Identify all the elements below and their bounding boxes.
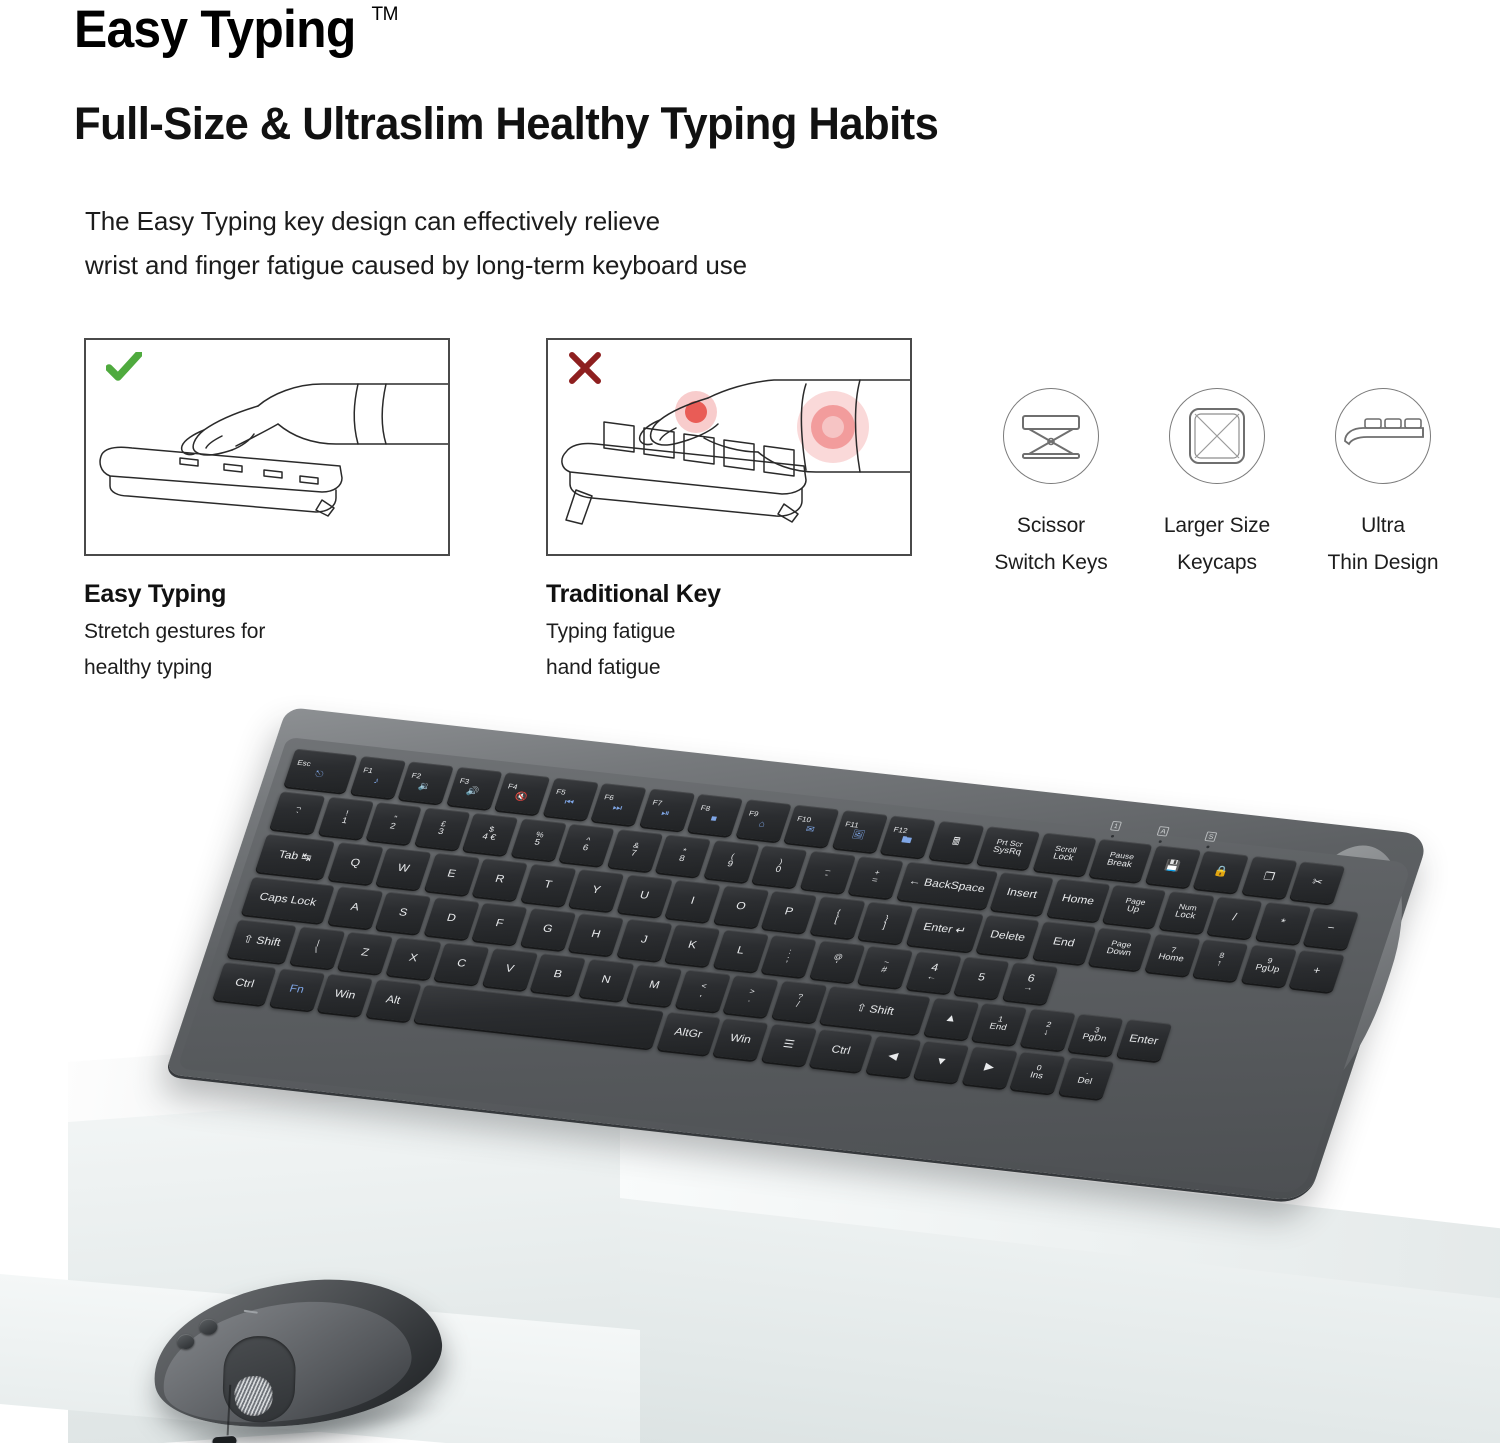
key-8-[interactable]: 8↑ <box>1192 939 1248 981</box>
key-label: P <box>783 906 795 918</box>
num-lock-led: 1 <box>1108 821 1123 839</box>
key-label: T <box>542 879 553 891</box>
key-label: C <box>455 958 467 970</box>
subheading: The Easy Typing key design can effective… <box>85 200 747 287</box>
key-label: Tab ↹ <box>277 849 313 864</box>
key-label: Win <box>333 988 357 1002</box>
key-label: Caps Lock <box>258 891 318 909</box>
key-p[interactable]: P <box>761 891 817 933</box>
key-label: G <box>541 923 554 935</box>
key--[interactable]: {[ <box>809 896 865 938</box>
feature-label-line-1: Scissor <box>994 507 1107 544</box>
key-sublabel: → <box>1022 984 1034 994</box>
key-t[interactable]: T <box>520 864 576 906</box>
key-label: Delete <box>988 929 1026 944</box>
key-label: U <box>638 890 650 902</box>
key-label-bottom: # <box>880 966 888 976</box>
mouse-status-led <box>244 1310 258 1314</box>
key-f9-[interactable]: F9⌂ <box>735 799 791 841</box>
key-fn[interactable]: Fn <box>269 968 325 1010</box>
key--4-[interactable]: $4 € <box>462 813 518 855</box>
key-ctrl[interactable]: Ctrl <box>809 1029 873 1072</box>
key-label: Z <box>359 947 370 959</box>
key--6[interactable]: ^6 <box>558 824 614 866</box>
key-label-bottom: Lock <box>1173 911 1196 922</box>
key-label-bottom: . <box>746 996 752 1005</box>
key-h[interactable]: H <box>568 913 624 955</box>
key-z[interactable]: Z <box>337 932 393 974</box>
key-2-[interactable]: 2↓ <box>1019 1008 1075 1050</box>
led-dot <box>1111 835 1115 838</box>
key-label-top: F5 <box>555 789 567 798</box>
mouse-usb-c-port[interactable] <box>211 1435 238 1443</box>
key-label-bottom: 6 <box>581 844 589 854</box>
key-label-bottom: SysRq <box>991 846 1022 858</box>
key-5[interactable]: 5 <box>953 957 1009 999</box>
key-label-bottom: ⏮ <box>563 797 575 807</box>
key-f4-[interactable]: F4🔇 <box>494 772 550 814</box>
key-label-bottom: Break <box>1105 859 1133 871</box>
feature-label-scissor: Scissor Switch Keys <box>994 507 1107 582</box>
key-label: End <box>1051 936 1076 950</box>
key-label-top: F10 <box>796 816 812 825</box>
key-label-bottom: \ <box>313 947 319 956</box>
key-f3-[interactable]: F3🔊 <box>446 767 502 809</box>
key-f8-[interactable]: F8■ <box>687 794 743 836</box>
key-label-bottom: 🖼 <box>850 830 866 841</box>
trademark-symbol: TM <box>371 4 397 26</box>
key-label: E <box>446 868 458 880</box>
comparison-panel-easy-typing <box>84 338 450 556</box>
key-label-bottom: Del <box>1076 1077 1093 1088</box>
product-photo-stage: 1AS Esc⎋F1♪F2🔉F3🔊F4🔇F5⏮F6⏭F7⏯F8■F9⌂F10✉F… <box>0 690 1500 1443</box>
key-label-bottom: [ <box>833 917 839 926</box>
key-1-end[interactable]: 1End <box>971 1003 1027 1045</box>
key-label-top: F11 <box>844 821 860 830</box>
caps-lock-led: A <box>1154 826 1169 844</box>
key-label: AltGr <box>673 1026 704 1040</box>
key-label: Ctrl <box>233 977 255 990</box>
key-label-bottom: = <box>870 877 878 887</box>
key-label: Win <box>728 1033 752 1047</box>
key-label-bottom: 3 <box>436 828 444 838</box>
feature-highlights: Scissor Switch Keys Larger Size Keycaps <box>968 388 1468 582</box>
key--3[interactable]: £3 <box>414 808 470 850</box>
key-i[interactable]: I <box>664 880 720 922</box>
key-page-down[interactable]: PageDown <box>1088 927 1152 970</box>
key-f5-[interactable]: F5⏮ <box>542 778 598 820</box>
key-label: ▼ <box>933 1056 949 1069</box>
feature-scissor-switch-keys: Scissor Switch Keys <box>968 388 1134 582</box>
key-3-pgdn[interactable]: 3PgDn <box>1067 1014 1123 1056</box>
key-label: R <box>494 873 506 885</box>
key-label: 🖩 <box>950 836 961 848</box>
key-label: H <box>590 928 602 940</box>
key--[interactable]: 🔒 <box>1193 851 1249 893</box>
key--[interactable]: |\ <box>289 926 345 968</box>
key-4-[interactable]: 4← <box>905 951 961 993</box>
key-f12-[interactable]: F12🖿 <box>880 816 936 858</box>
key-label: J <box>639 934 649 946</box>
key-label: ⇧ Shift <box>854 1002 895 1017</box>
key-label-bottom: PgUp <box>1254 964 1281 976</box>
key-label-top: F1 <box>362 767 374 776</box>
key-label-bottom: End <box>988 1023 1008 1034</box>
key-j[interactable]: J <box>616 919 672 961</box>
key-label: ← BackSpace <box>907 876 986 896</box>
panel-title-traditional-key: Traditional Key <box>546 580 721 609</box>
scissor-switch-icon <box>1003 388 1099 484</box>
key-label-bottom: ⏯ <box>660 808 671 818</box>
slim-profile-icon <box>1335 388 1431 484</box>
key-label: ☰ <box>781 1039 795 1051</box>
key--[interactable]: / <box>1206 896 1262 938</box>
key-u[interactable]: U <box>616 875 672 917</box>
check-mark-icon <box>106 352 142 387</box>
key-label-bottom: ↓ <box>1042 1029 1050 1038</box>
key-end[interactable]: End <box>1032 921 1096 964</box>
key-f7-[interactable]: F7⏯ <box>639 788 695 830</box>
feature-label-line-1: Larger Size <box>1164 507 1270 544</box>
key-label-top: Esc <box>296 760 312 769</box>
feature-larger-size-keycaps: Larger Size Keycaps <box>1134 388 1300 582</box>
key--[interactable]: ◀ <box>865 1035 921 1077</box>
key-page-up[interactable]: PageUp <box>1102 885 1166 928</box>
key--8[interactable]: *8 <box>655 835 711 877</box>
page-title: Full-Size & Ultraslim Healthy Typing Hab… <box>74 98 938 150</box>
key-f[interactable]: F <box>471 903 527 945</box>
key-scroll-lock[interactable]: ScrollLock <box>1032 833 1096 876</box>
key-num-lock[interactable]: NumLock <box>1158 891 1214 933</box>
mouse-scroll-wheel[interactable] <box>233 1375 274 1418</box>
illustration-hand-on-thick-keyboard <box>548 340 912 556</box>
key-label: W <box>396 862 411 875</box>
key--[interactable]: ▲ <box>923 997 979 1039</box>
key-label: Y <box>590 884 602 896</box>
key-label: ✂ <box>1310 876 1324 888</box>
key--[interactable]: }] <box>857 902 913 944</box>
key-0-ins[interactable]: 0Ins <box>1009 1051 1065 1093</box>
key--7[interactable]: &7 <box>607 829 663 871</box>
keyboard-chassis: 1AS Esc⎋F1♪F2🔉F3🔊F4🔇F5⏮F6⏭F7⏯F8■F9⌂F10✉F… <box>165 707 1430 1202</box>
panel-sub-line-2: hand fatigue <box>546 650 675 686</box>
key-label: 💾 <box>1163 860 1182 873</box>
key-n[interactable]: N <box>578 959 634 1001</box>
key--[interactable]: ▼ <box>913 1041 969 1083</box>
key-win[interactable]: Win <box>317 974 373 1016</box>
feature-label-line-2: Thin Design <box>1328 544 1439 581</box>
key--9[interactable]: (9 <box>703 840 759 882</box>
key-o[interactable]: O <box>713 885 769 927</box>
key-label-bottom: 🔇 <box>513 792 528 803</box>
key-f1-[interactable]: F1♪ <box>349 756 405 798</box>
key-prt-scr-sysrq[interactable]: Prt ScrSysRq <box>976 826 1040 869</box>
led-glyph: 1 <box>1110 821 1122 832</box>
key--5[interactable]: %5 <box>510 818 566 860</box>
key-label-bottom: 7 <box>629 850 637 860</box>
key-a[interactable]: A <box>327 886 383 928</box>
mouse-wheel-trough <box>222 1335 297 1423</box>
key-label: V <box>504 963 516 975</box>
key-label: A <box>349 901 361 913</box>
key-label-bottom: / <box>795 1001 801 1010</box>
key--[interactable]: 💾 <box>1144 845 1200 887</box>
key-w[interactable]: W <box>375 847 431 889</box>
key-d[interactable]: D <box>423 897 479 939</box>
led-glyph: A <box>1157 826 1170 837</box>
key-g[interactable]: G <box>520 908 576 950</box>
key-insert[interactable]: Insert <box>990 872 1054 915</box>
key-label: ▶ <box>983 1061 996 1073</box>
key--[interactable]: * <box>1254 902 1310 944</box>
subheading-line-1: The Easy Typing key design can effective… <box>85 200 747 244</box>
key-label-bottom: Down <box>1105 947 1132 959</box>
key-label-bottom: ■ <box>709 814 718 824</box>
key-label-bottom: ♪ <box>372 776 380 786</box>
key--[interactable]: 🖩 <box>928 821 984 863</box>
key-label-top: F2 <box>410 772 422 781</box>
panel-sub-line-1: Typing fatigue <box>546 614 675 650</box>
key-label-bottom: ; <box>784 956 790 965</box>
mouse-dpi-button-1[interactable] <box>176 1333 195 1350</box>
feature-label-keycaps: Larger Size Keycaps <box>1164 507 1270 582</box>
led-dot <box>1158 840 1162 843</box>
brand-lockup: Easy Typing TM <box>74 2 398 58</box>
key-label-bottom: 2 <box>388 823 396 833</box>
key-label-bottom: 1 <box>340 817 348 827</box>
feature-ultra-thin-design: Ultra Thin Design <box>1300 388 1466 582</box>
key-label: K <box>686 939 698 951</box>
key-label-top: F7 <box>651 799 663 808</box>
key-label: + <box>1311 965 1322 977</box>
key-label-bottom: 🔉 <box>417 781 432 792</box>
key-esc-[interactable]: Esc⎋ <box>283 749 357 793</box>
key-label: ⇧ Shift <box>241 934 282 949</box>
key--[interactable]: _- <box>799 851 855 893</box>
key--0[interactable]: )0 <box>751 845 807 887</box>
key-pause-break[interactable]: PauseBreak <box>1088 839 1152 882</box>
key-label-bottom: ] <box>881 922 887 931</box>
key-label-bottom: ⌂ <box>757 819 766 829</box>
key-label-bottom: Up <box>1125 905 1140 915</box>
key--[interactable]: <, <box>674 970 730 1012</box>
key-label: ▲ <box>943 1012 959 1025</box>
key--[interactable]: >. <box>722 975 778 1017</box>
key-s[interactable]: S <box>375 892 431 934</box>
key-win[interactable]: Win <box>712 1018 768 1060</box>
key-label-bottom: 4 € <box>481 833 497 843</box>
panel-sub-line-2: healthy typing <box>84 650 265 686</box>
key-label: ❐ <box>1262 871 1276 883</box>
key-label: / <box>1231 912 1238 924</box>
key-label-bottom: ✉ <box>804 825 815 835</box>
key-sublabel: ← <box>925 973 937 983</box>
mouse-dpi-button-2[interactable] <box>198 1318 218 1336</box>
key-label-bottom: Lock <box>1051 853 1074 864</box>
comparison-panel-traditional-key <box>546 338 912 556</box>
key-enter-[interactable]: Enter ↵ <box>905 907 983 952</box>
key-x[interactable]: X <box>385 937 441 979</box>
product-infographic: Easy Typing TM Full-Size & Ultraslim Hea… <box>0 0 1500 1443</box>
key--[interactable]: ❐ <box>1241 856 1297 898</box>
key-label: * <box>1278 917 1286 929</box>
key--[interactable]: ▶ <box>961 1046 1017 1088</box>
key-label: S <box>397 907 409 919</box>
key-b[interactable]: B <box>530 953 586 995</box>
key-label: Insert <box>1005 887 1039 902</box>
key-label-top: F6 <box>603 794 615 803</box>
key-label: O <box>734 900 747 912</box>
key-label: ◀ <box>886 1050 899 1062</box>
key-7-home[interactable]: 7Home <box>1144 934 1200 976</box>
panel-subtitle-easy-typing: Stretch gestures for healthy typing <box>84 614 265 686</box>
key-label: Home <box>1060 893 1096 908</box>
key-c[interactable]: C <box>433 943 489 985</box>
key-ctrl[interactable]: Ctrl <box>212 962 276 1005</box>
key-label: Fn <box>288 983 306 996</box>
key-label-bottom: 0 <box>774 866 782 876</box>
key-label: Ctrl <box>830 1044 852 1057</box>
key-e[interactable]: E <box>423 853 479 895</box>
key-label: Q <box>349 857 362 869</box>
key--[interactable]: :; <box>761 935 817 977</box>
feature-label-ultra-thin: Ultra Thin Design <box>1328 507 1439 582</box>
led-dot <box>1206 846 1210 849</box>
key-label: X <box>407 952 419 964</box>
key-label: N <box>600 974 612 986</box>
key--2[interactable]: "2 <box>366 802 422 844</box>
panel-subtitle-traditional-key: Typing fatigue hand fatigue <box>546 614 675 686</box>
key-label-bottom: Home <box>1157 953 1185 965</box>
key-label-bottom: , <box>698 990 704 999</box>
key-f6-[interactable]: F6⏭ <box>590 783 646 825</box>
key-r[interactable]: R <box>472 858 528 900</box>
key-label: 🔒 <box>1211 865 1230 878</box>
key-label-bottom: ' <box>833 961 838 970</box>
key-label-bottom: Ins <box>1028 1072 1044 1082</box>
key-label-bottom: 🔊 <box>465 786 480 797</box>
key-label: I <box>689 895 696 907</box>
key-label-top: F8 <box>699 805 711 814</box>
keyboard-key-grid[interactable]: Esc⎋F1♪F2🔉F3🔊F4🔇F5⏮F6⏭F7⏯F8■F9⌂F10✉F11🖼F… <box>287 707 1430 835</box>
key-label-bottom: 8 <box>677 855 685 865</box>
key-label: Enter <box>1127 1033 1159 1047</box>
key-label: D <box>445 912 457 924</box>
key-label-bottom: PgDn <box>1081 1033 1108 1045</box>
key--shift[interactable]: ⇧ Shift <box>227 919 297 963</box>
key-label-top: F4 <box>507 783 519 792</box>
key-m[interactable]: M <box>626 964 682 1006</box>
cross-mark-icon <box>568 352 602 389</box>
key-k[interactable]: K <box>664 924 720 966</box>
key-label-bottom: - <box>823 871 829 880</box>
key-label-bottom: 9 <box>726 860 734 870</box>
key-label: − <box>1325 922 1336 934</box>
key--[interactable]: ~# <box>857 946 913 988</box>
panel-title-easy-typing: Easy Typing <box>84 580 226 609</box>
key-v[interactable]: V <box>481 948 537 990</box>
feature-label-line-2: Keycaps <box>1164 544 1270 581</box>
key-altgr[interactable]: AltGr <box>656 1012 720 1055</box>
key-label-top: F12 <box>892 827 908 836</box>
key-label-bottom: ⏭ <box>611 803 623 813</box>
keycap-square-icon <box>1169 388 1265 484</box>
feature-label-line-2: Switch Keys <box>994 544 1107 581</box>
key-label-bottom: 5 <box>533 839 541 849</box>
key--1[interactable]: !1 <box>317 797 373 839</box>
panel-sub-line-1: Stretch gestures for <box>84 614 265 650</box>
key--[interactable]: += <box>848 856 904 898</box>
key-label: Enter ↵ <box>922 921 968 937</box>
key-label: B <box>552 969 564 981</box>
key-label-bottom: ⎋ <box>314 769 325 779</box>
key-label-top: F9 <box>748 810 760 819</box>
key-label: 5 <box>976 972 986 984</box>
feature-label-line-1: Ultra <box>1328 507 1439 544</box>
key-9-pgup[interactable]: 9PgUp <box>1240 945 1296 987</box>
key-l[interactable]: L <box>712 930 768 972</box>
key-label-top: @ <box>833 953 844 962</box>
subheading-line-2: wrist and finger fatigue caused by long-… <box>85 244 747 288</box>
key-label-bottom: ` <box>293 812 299 821</box>
key-label-bottom: ↑ <box>1215 960 1223 969</box>
key-f2-[interactable]: F2🔉 <box>398 761 454 803</box>
pain-indicator-wrist <box>797 391 869 463</box>
key-tab-[interactable]: Tab ↹ <box>255 834 335 879</box>
brand-name: Easy Typing <box>74 2 356 58</box>
key-delete[interactable]: Delete <box>975 915 1039 958</box>
key--[interactable]: ☰ <box>760 1024 816 1066</box>
key-f11-[interactable]: F11🖼 <box>831 810 887 852</box>
key-q[interactable]: Q <box>327 842 383 884</box>
key-label: M <box>647 979 661 991</box>
key-y[interactable]: Y <box>568 869 624 911</box>
key-label: F <box>494 918 505 930</box>
key-label-top: F3 <box>458 778 470 787</box>
key-label-bottom: 🖿 <box>900 835 913 846</box>
key--[interactable]: ?/ <box>771 980 827 1022</box>
key-label: Alt <box>384 994 402 1007</box>
key-f10-[interactable]: F10✉ <box>783 805 839 847</box>
key-home[interactable]: Home <box>1046 878 1110 921</box>
key-label: L <box>735 945 745 957</box>
key--[interactable]: @' <box>809 940 865 982</box>
key-alt[interactable]: Alt <box>365 979 421 1021</box>
